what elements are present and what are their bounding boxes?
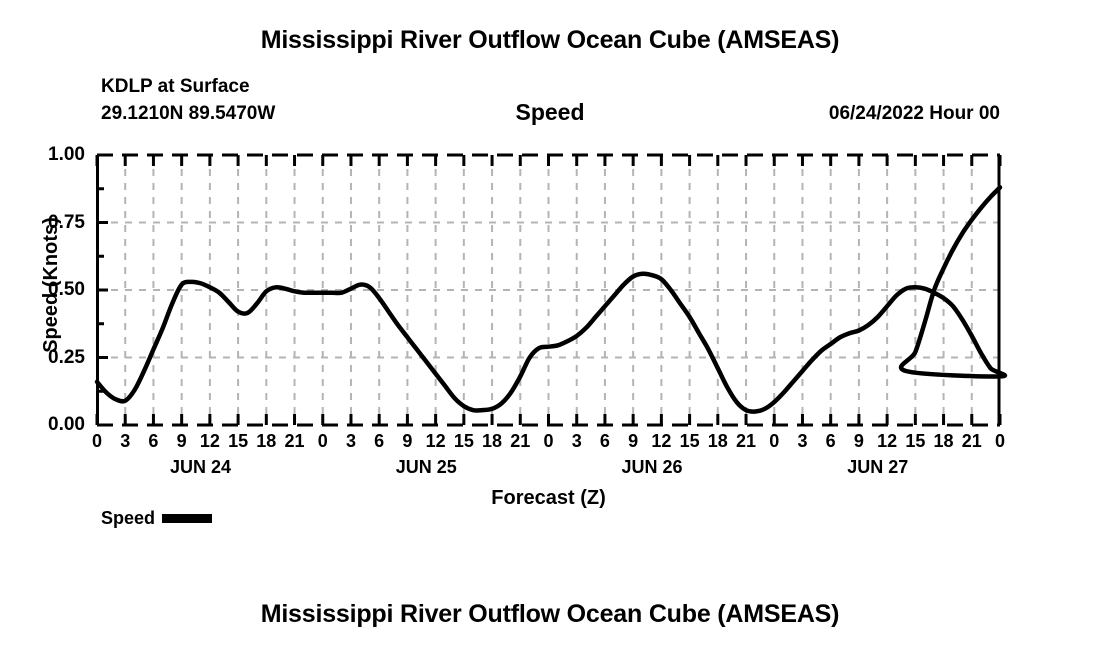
x-tick-label: 3 (572, 431, 582, 452)
x-tick-label: 9 (177, 431, 187, 452)
speed-time-series-chart (97, 155, 1000, 425)
x-tick-label: 18 (256, 431, 276, 452)
x-tick-label: 0 (543, 431, 553, 452)
x-tick-label: 12 (877, 431, 897, 452)
y-tick-label: 0.50 (48, 279, 85, 301)
legend-label-speed: Speed (101, 508, 155, 529)
x-tick-label: 9 (628, 431, 638, 452)
x-tick-label: 9 (854, 431, 864, 452)
x-tick-label: 0 (995, 431, 1005, 452)
x-axis-day-label: JUN 25 (396, 457, 457, 478)
chart-plot-area: Speed (Knots) 0.000.250.500.751.00 03691… (97, 155, 1000, 425)
x-tick-label: 6 (374, 431, 384, 452)
y-tick-label: 0.75 (48, 212, 85, 234)
x-tick-label: 9 (402, 431, 412, 452)
x-tick-label: 3 (120, 431, 130, 452)
x-tick-label: 15 (228, 431, 248, 452)
x-tick-label: 6 (826, 431, 836, 452)
station-label: KDLP at Surface (101, 76, 250, 98)
x-tick-label: 15 (680, 431, 700, 452)
x-axis-day-label: JUN 24 (170, 457, 231, 478)
page-title-bottom: Mississippi River Outflow Ocean Cube (AM… (0, 600, 1100, 629)
x-tick-label: 12 (200, 431, 220, 452)
x-tick-label: 18 (934, 431, 954, 452)
x-tick-label: 12 (651, 431, 671, 452)
speed-series-line (97, 187, 1005, 411)
legend-swatch-speed (162, 514, 212, 523)
x-tick-label: 6 (148, 431, 158, 452)
x-tick-label: 0 (769, 431, 779, 452)
y-tick-label: 0.00 (48, 414, 85, 436)
x-tick-label: 6 (600, 431, 610, 452)
chart-legend: Speed (101, 508, 212, 529)
x-tick-label: 21 (285, 431, 305, 452)
x-tick-label: 15 (905, 431, 925, 452)
x-axis-day-label: JUN 27 (847, 457, 908, 478)
y-tick-label: 0.25 (48, 347, 85, 369)
x-axis-title: Forecast (Z) (97, 487, 1000, 510)
x-tick-label: 21 (736, 431, 756, 452)
x-tick-label: 21 (510, 431, 530, 452)
x-tick-label: 12 (426, 431, 446, 452)
x-tick-label: 18 (708, 431, 728, 452)
page-title-top: Mississippi River Outflow Ocean Cube (AM… (0, 26, 1100, 55)
x-tick-label: 21 (962, 431, 982, 452)
x-tick-label: 3 (346, 431, 356, 452)
y-tick-label: 1.00 (48, 144, 85, 166)
x-axis-day-label: JUN 26 (621, 457, 682, 478)
forecast-datetime-label: 06/24/2022 Hour 00 (829, 103, 1000, 125)
x-tick-label: 15 (454, 431, 474, 452)
x-tick-label: 0 (92, 431, 102, 452)
x-tick-label: 18 (482, 431, 502, 452)
x-tick-label: 3 (797, 431, 807, 452)
x-tick-label: 0 (318, 431, 328, 452)
